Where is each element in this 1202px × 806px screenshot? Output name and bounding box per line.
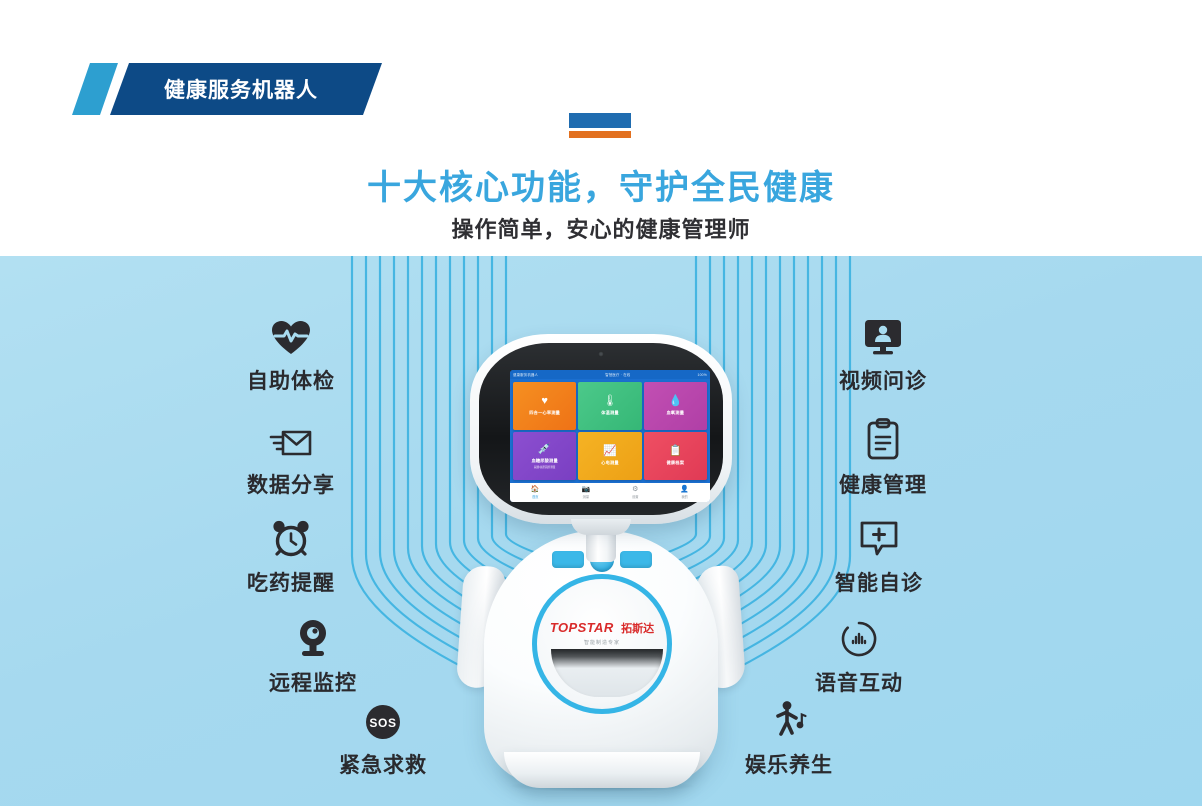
webcam-icon xyxy=(218,614,408,658)
feature-label: 远程监控 xyxy=(218,667,408,697)
feature-health-management[interactable]: 健康管理 xyxy=(788,416,978,499)
robot-head-bezel: 健康服务机器人 智慧医疗 · 在线 100% ♥ 四合一心率测量 🌡 体温测量 xyxy=(479,343,723,515)
robot-chin xyxy=(571,519,631,535)
screen-tile[interactable]: 🌡 体温测量 xyxy=(578,382,641,430)
nav-item-measure[interactable]: 📷 测量 xyxy=(582,486,591,499)
robot-base xyxy=(504,752,700,788)
clipboard-icon xyxy=(788,416,978,460)
gear-icon: ⚙ xyxy=(632,486,638,493)
voice-wave-icon xyxy=(764,614,954,658)
feature-label: 语音互动 xyxy=(764,667,954,697)
screen-tile[interactable]: 💉 血糖尿酸测量 尿酸/总胆固醇测量 xyxy=(513,432,576,480)
screen-bottom-nav: 🏠 首页 📷 测量 ⚙ 设置 👤 我的 xyxy=(510,483,710,502)
alarm-clock-icon xyxy=(196,514,386,558)
status-center: 智慧医疗 · 在线 xyxy=(605,372,630,377)
tag-label: 健康服务机器人 xyxy=(164,74,318,104)
nav-label: 测量 xyxy=(582,494,591,499)
tile-sublabel: 尿酸/总胆固醇测量 xyxy=(534,465,555,469)
svg-text:SOS: SOS xyxy=(369,716,396,730)
screen-tile[interactable]: 📈 心电测量 xyxy=(578,432,641,480)
brand-mark: TOPSTAR xyxy=(550,620,614,635)
heart-pulse-icon xyxy=(196,312,386,356)
accent-bar-blue xyxy=(569,113,631,128)
robot-touchscreen[interactable]: 健康服务机器人 智慧医疗 · 在线 100% ♥ 四合一心率测量 🌡 体温测量 xyxy=(510,370,710,502)
feature-self-checkup[interactable]: 自助体检 xyxy=(196,312,386,395)
robot-chest-vent xyxy=(551,649,663,697)
page-title: 十大核心功能，守护全民健康 xyxy=(0,160,1202,209)
tile-label: 血糖尿酸测量 xyxy=(532,458,558,464)
tile-icon: 📈 xyxy=(603,446,617,457)
robot-brand-logo: TOPSTAR 拓斯达 智能制造专家 xyxy=(537,619,667,646)
tile-label: 血氧测量 xyxy=(667,410,685,416)
screen-tile[interactable]: ♥ 四合一心率测量 xyxy=(513,382,576,430)
feature-video-consult[interactable]: 视频问诊 xyxy=(788,312,978,395)
tile-label: 心电测量 xyxy=(601,460,619,466)
feature-medication-reminder[interactable]: 吃药提醒 xyxy=(196,514,386,597)
nav-label: 设置 xyxy=(632,494,638,499)
accent-bar-orange xyxy=(569,131,631,138)
brand-tagline: 智能制造专家 xyxy=(537,639,667,646)
feature-label: 健康管理 xyxy=(788,469,978,499)
nav-item-home[interactable]: 🏠 首页 xyxy=(531,486,540,499)
tile-label: 四合一心率测量 xyxy=(529,410,560,416)
tile-icon: 🌡 xyxy=(603,396,617,407)
feature-voice-interaction[interactable]: 语音互动 xyxy=(764,614,954,697)
hero-stage: 自助体检 数据分享 吃药提醒 xyxy=(0,256,1202,806)
title-accent-bars xyxy=(569,113,631,138)
home-icon: 🏠 xyxy=(531,486,540,493)
robot-button-back[interactable] xyxy=(620,551,652,568)
tile-label: 健康档案 xyxy=(667,460,685,466)
screen-tile[interactable]: 📋 健康档案 xyxy=(644,432,707,480)
feature-data-share[interactable]: 数据分享 xyxy=(196,416,386,499)
feature-label: 数据分享 xyxy=(196,469,386,499)
status-right: 100% xyxy=(698,373,707,377)
brand-mark-cn: 拓斯达 xyxy=(621,623,654,635)
tile-icon: 📋 xyxy=(668,446,682,457)
feature-label: 自助体检 xyxy=(196,365,386,395)
feature-label: 视频问诊 xyxy=(788,365,978,395)
status-left: 健康服务机器人 xyxy=(513,372,538,377)
page-subtitle: 操作简单，安心的健康管理师 xyxy=(0,212,1202,244)
camera-icon xyxy=(598,351,604,357)
video-consult-icon xyxy=(788,312,978,356)
tag-accent-sliver xyxy=(72,63,118,115)
feature-label: 吃药提醒 xyxy=(196,567,386,597)
screen-tile[interactable]: 💧 血氧测量 xyxy=(644,382,707,430)
tag-banner: 健康服务机器人 xyxy=(110,63,382,115)
camera-icon: 📷 xyxy=(582,486,591,493)
feature-remote-monitoring[interactable]: 远程监控 xyxy=(218,614,408,697)
nav-item-settings[interactable]: ⚙ 设置 xyxy=(632,486,638,499)
screen-status-bar: 健康服务机器人 智慧医疗 · 在线 100% xyxy=(510,370,710,379)
nav-item-profile[interactable]: 👤 我的 xyxy=(680,486,689,499)
tile-label: 体温测量 xyxy=(601,410,619,416)
robot-head: 健康服务机器人 智慧医疗 · 在线 100% ♥ 四合一心率测量 🌡 体温测量 xyxy=(470,334,732,524)
feature-label: 智能自诊 xyxy=(784,567,974,597)
header-zone: 健康服务机器人 十大核心功能，守护全民健康 操作简单，安心的健康管理师 xyxy=(0,0,1202,256)
nav-label: 我的 xyxy=(680,494,689,499)
chat-plus-icon xyxy=(784,514,974,558)
robot-button-shortcut[interactable] xyxy=(552,551,584,568)
tile-icon: 💧 xyxy=(668,396,682,407)
user-icon: 👤 xyxy=(680,486,689,493)
nav-label: 首页 xyxy=(531,494,540,499)
service-robot: TOPSTAR 拓斯达 智能制造专家 健康服务机器人 智慧医疗 · 在线 100… xyxy=(448,334,754,804)
tile-icon: ♥ xyxy=(541,396,548,407)
screen-app-grid: ♥ 四合一心率测量 🌡 体温测量 💧 血氧测量 xyxy=(510,379,710,483)
tile-icon: 💉 xyxy=(538,444,552,455)
envelope-send-icon xyxy=(196,416,386,460)
section-tag: 健康服务机器人 xyxy=(72,63,382,115)
robot-chest-ring: TOPSTAR 拓斯达 智能制造专家 xyxy=(532,574,672,714)
feature-smart-self-diagnosis[interactable]: 智能自诊 xyxy=(784,514,974,597)
